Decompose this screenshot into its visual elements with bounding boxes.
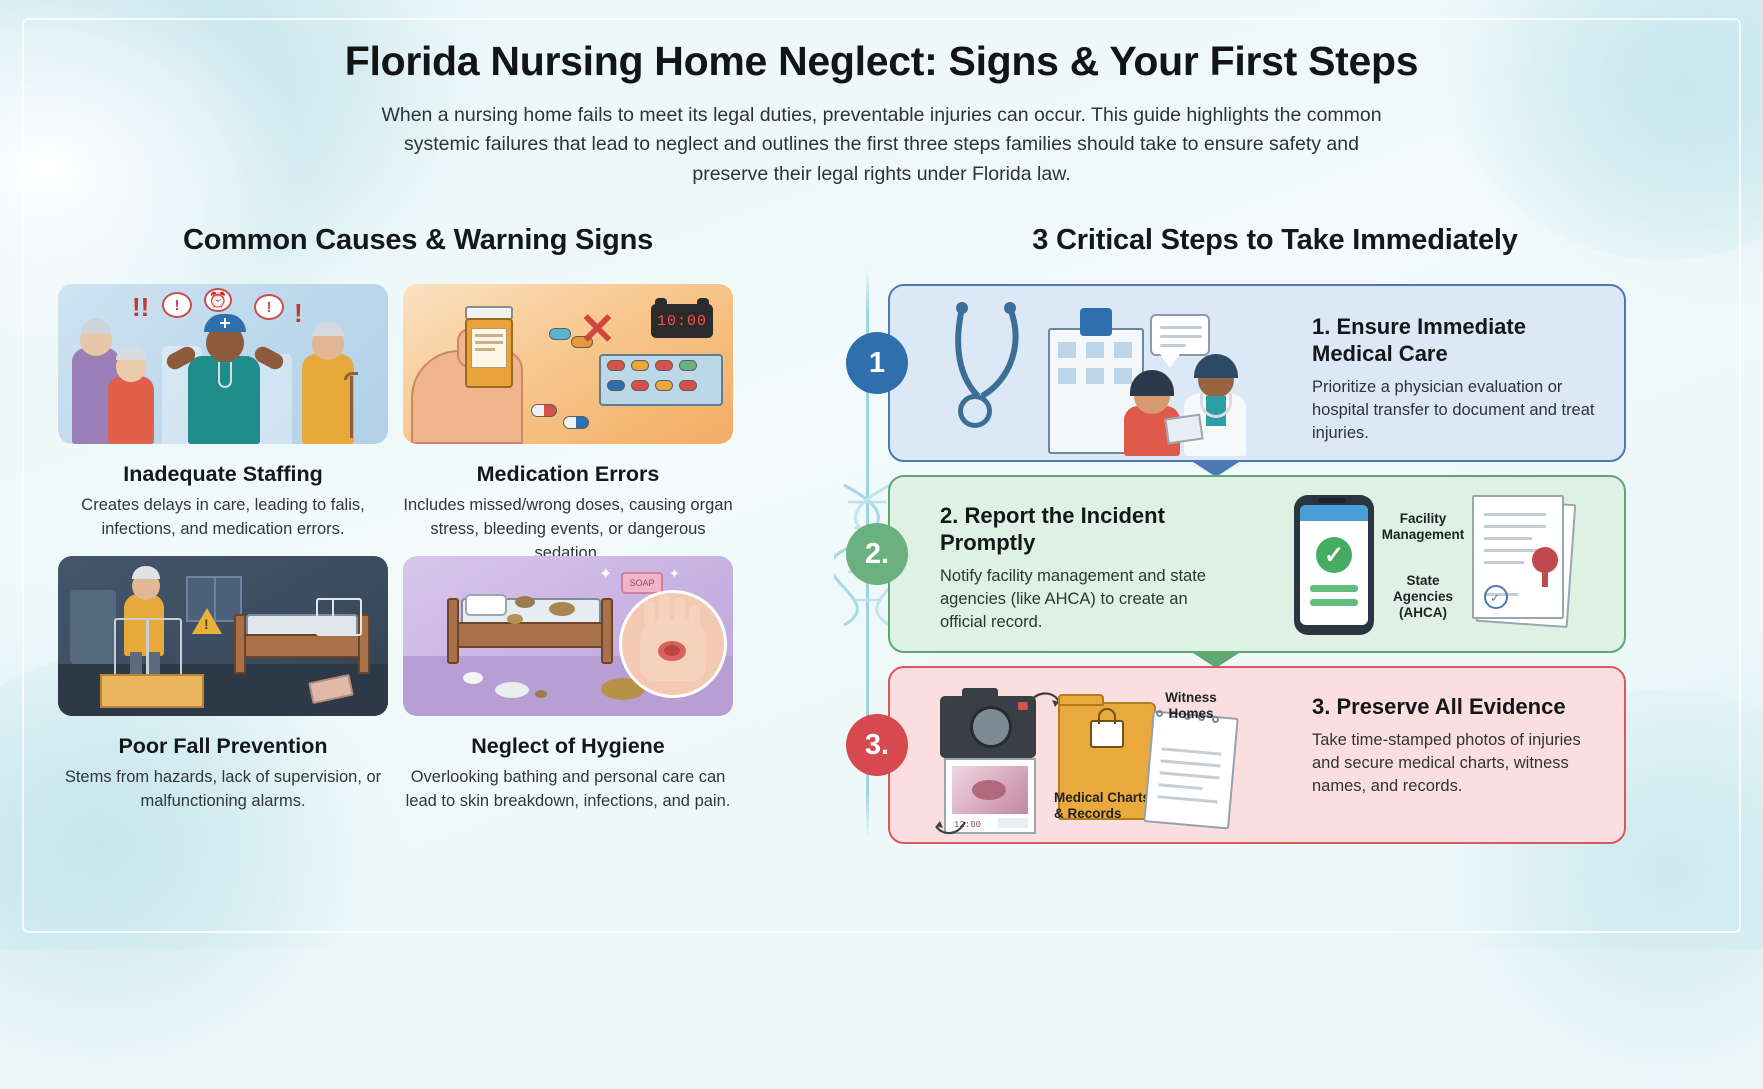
step-title: 3. Preserve All Evidence	[1312, 694, 1602, 721]
understaffed-nurse-illustration: ! ⏰ ! !! !	[58, 284, 388, 444]
fall-hazard-bedroom-illustration	[58, 556, 388, 716]
clock-time: 10:00	[657, 313, 707, 330]
step-description: Take time-stamped photos of injuries and…	[1312, 729, 1602, 798]
rotate-arrow-icon	[934, 816, 968, 838]
cause-card-description: Stems from hazards, lack of supervision,…	[58, 766, 388, 814]
soap-bar-icon: SOAP	[621, 572, 663, 594]
right-column-heading: 3 Critical Steps to Take Immediately	[855, 224, 1695, 257]
checkmark-icon: ✓	[1316, 537, 1352, 573]
art-label-medical-charts: Medical Charts & Records	[1054, 790, 1158, 822]
step-title: 2. Report the Incident Promptly	[940, 503, 1220, 557]
step-title: 1. Ensure Immediate Medical Care	[1312, 314, 1602, 368]
lock-icon	[1090, 720, 1124, 748]
pillow-icon	[465, 594, 507, 616]
cause-card-poor-fall-prevention[interactable]: Poor Fall Prevention Stems from hazards,…	[58, 556, 388, 814]
cause-card-title: Medication Errors	[403, 462, 733, 487]
red-x-icon: ✕	[579, 308, 616, 352]
cause-card-inadequate-staffing[interactable]: ! ⏰ ! !! ! Inadequate Staffing Creates d…	[58, 284, 388, 542]
step-card-preserve-evidence[interactable]: 3. 12:00	[888, 666, 1626, 844]
step-number-badge: 1	[846, 332, 908, 394]
soiled-bed-skin-illustration: SOAP ✦ ✦	[403, 556, 733, 716]
art-label-state-agencies: State Agencies (AHCA)	[1380, 573, 1466, 622]
soap-label: SOAP	[629, 578, 654, 588]
warning-triangle-icon	[192, 608, 222, 634]
poster-header: Florida Nursing Home Neglect: Signs & Yo…	[0, 38, 1763, 189]
alarm-clock-icon: 10:00	[651, 304, 713, 338]
step-card-ensure-medical-care[interactable]: 1	[888, 284, 1626, 462]
step-description: Notify facility management and state age…	[940, 565, 1220, 634]
clipboard-icon	[1164, 414, 1203, 445]
cause-card-neglect-of-hygiene[interactable]: SOAP ✦ ✦ Neglect of Hygiene Overlooking …	[403, 556, 733, 814]
doctor-hospital-stethoscope-illustration	[942, 294, 1242, 456]
skin-breakdown-closeup-icon	[619, 590, 727, 698]
rug-hazard-icon	[100, 674, 204, 708]
phone-report-documents-illustration: ✓ Facility Management State Agencies (AH…	[1284, 489, 1604, 641]
sparkle-icon: ✦	[669, 566, 680, 582]
medication-bottle-pills-illustration: ✕ 10:00	[403, 284, 733, 444]
sparkle-icon: ✦	[599, 564, 612, 584]
art-label-witness-homes: Witness Homes	[1152, 690, 1230, 722]
cause-card-description: Creates delays in care, leading to falis…	[58, 494, 388, 542]
alert-bubble-icon: !	[162, 292, 192, 318]
left-column-heading: Common Causes & Warning Signs	[48, 224, 788, 257]
witness-notepad-icon	[1143, 710, 1238, 829]
exclamation-icon: !	[294, 298, 303, 329]
step-description: Prioritize a physician evaluation or hos…	[1312, 376, 1602, 445]
rotate-arrow-icon	[1026, 688, 1062, 712]
infographic-poster: Florida Nursing Home Neglect: Signs & Yo…	[0, 0, 1763, 949]
cause-card-description: Overlooking bathing and personal care ca…	[403, 766, 733, 814]
bed-rail-icon	[316, 598, 362, 636]
cause-card-title: Poor Fall Prevention	[58, 734, 388, 759]
chat-bubble-icon	[1150, 314, 1210, 356]
art-label-facility-management: Facility Management	[1380, 511, 1466, 543]
step-number-badge: 3.	[846, 714, 908, 776]
stethoscope-tube-icon	[948, 300, 1040, 404]
step-card-report-incident[interactable]: 2. 2. Report the Incident Promptly Notif…	[888, 475, 1626, 653]
alert-bubble-icon: ⏰	[204, 288, 232, 312]
page-subtitle: When a nursing home fails to meet its le…	[377, 101, 1387, 189]
page-title: Florida Nursing Home Neglect: Signs & Yo…	[0, 38, 1763, 85]
cause-card-title: Neglect of Hygiene	[403, 734, 733, 759]
step-text-block: 2. Report the Incident Promptly Notify f…	[940, 503, 1220, 634]
step-number-badge: 2.	[846, 523, 908, 585]
step-text-block: 3. Preserve All Evidence Take time-stamp…	[1312, 694, 1602, 798]
cause-card-title: Inadequate Staffing	[58, 462, 388, 487]
camera-lens-icon	[970, 706, 1012, 748]
camera-folder-notepad-illustration: 12:00 Medical Charts & Records	[930, 678, 1260, 838]
exclamation-icon: !!	[132, 292, 149, 323]
cause-card-description: Includes missed/wrong doses, causing org…	[403, 494, 733, 566]
alert-bubble-icon: !	[254, 294, 284, 320]
step-text-block: 1. Ensure Immediate Medical Care Priorit…	[1312, 314, 1602, 445]
cause-card-medication-errors[interactable]: ✕ 10:00 Medication Errors Includes misse…	[403, 284, 733, 566]
